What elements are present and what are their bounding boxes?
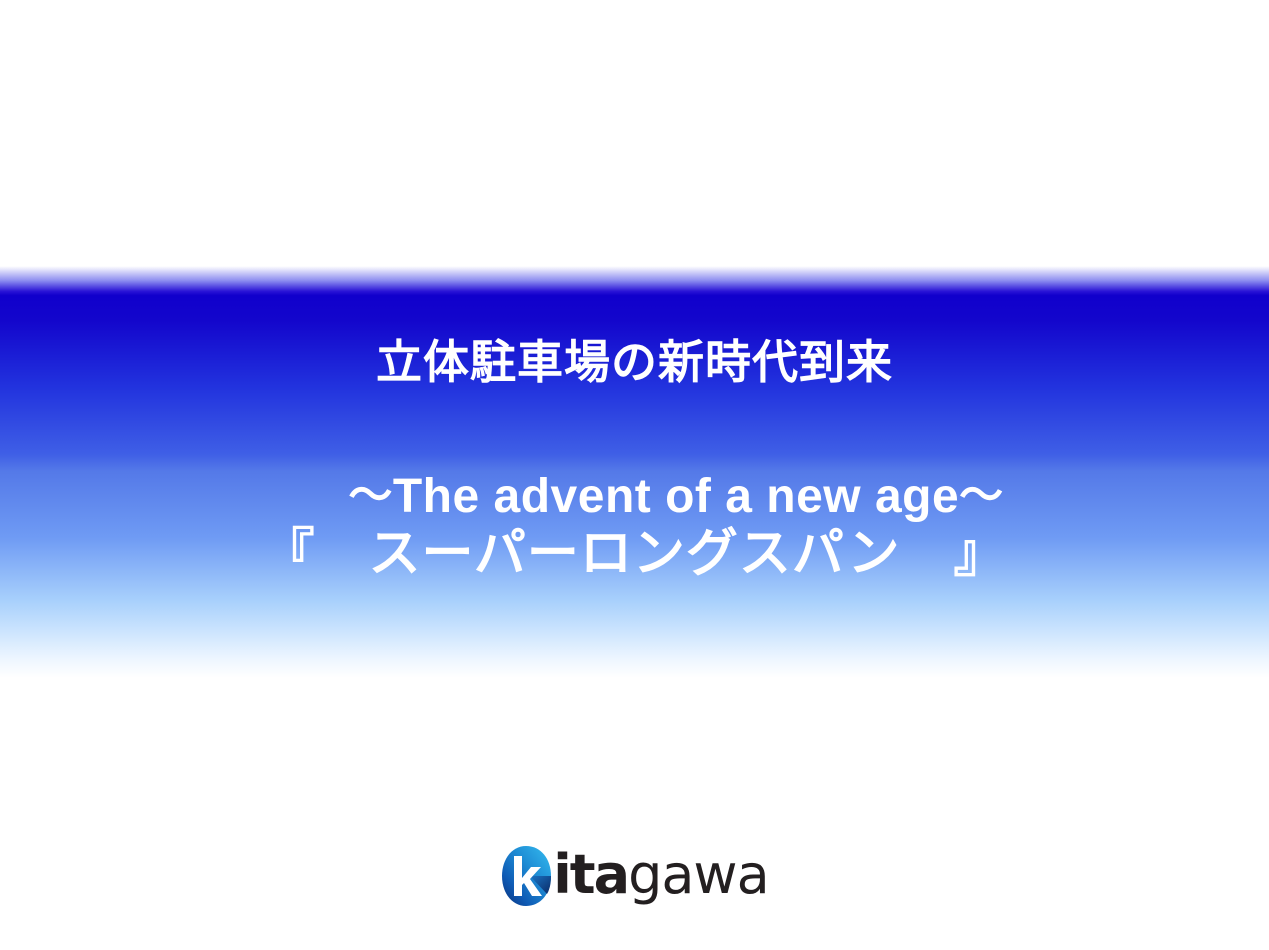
wordmark-bold: ita <box>553 843 628 906</box>
tilde-left: ～ <box>348 471 393 520</box>
title-line-japanese-subtitle: 『 スーパーロングスパン 』 <box>0 518 1269 590</box>
kitagawa-logo: itagawa <box>0 845 1269 907</box>
title-block: 立体駐車場の新時代到来 ～The advent of a new age～ 『 … <box>0 330 1269 599</box>
wordmark-light: gawa <box>628 843 769 906</box>
title-slide: 立体駐車場の新時代到来 ～The advent of a new age～ 『 … <box>0 0 1269 950</box>
kitagawa-wordmark: itagawa <box>553 844 768 906</box>
kitagawa-k-mark-icon <box>500 845 552 907</box>
title-line-japanese-main: 立体駐車場の新時代到来 <box>0 330 1269 394</box>
tilde-right: ～ <box>959 471 1004 520</box>
title-english-text: The advent of a new age <box>393 470 959 523</box>
